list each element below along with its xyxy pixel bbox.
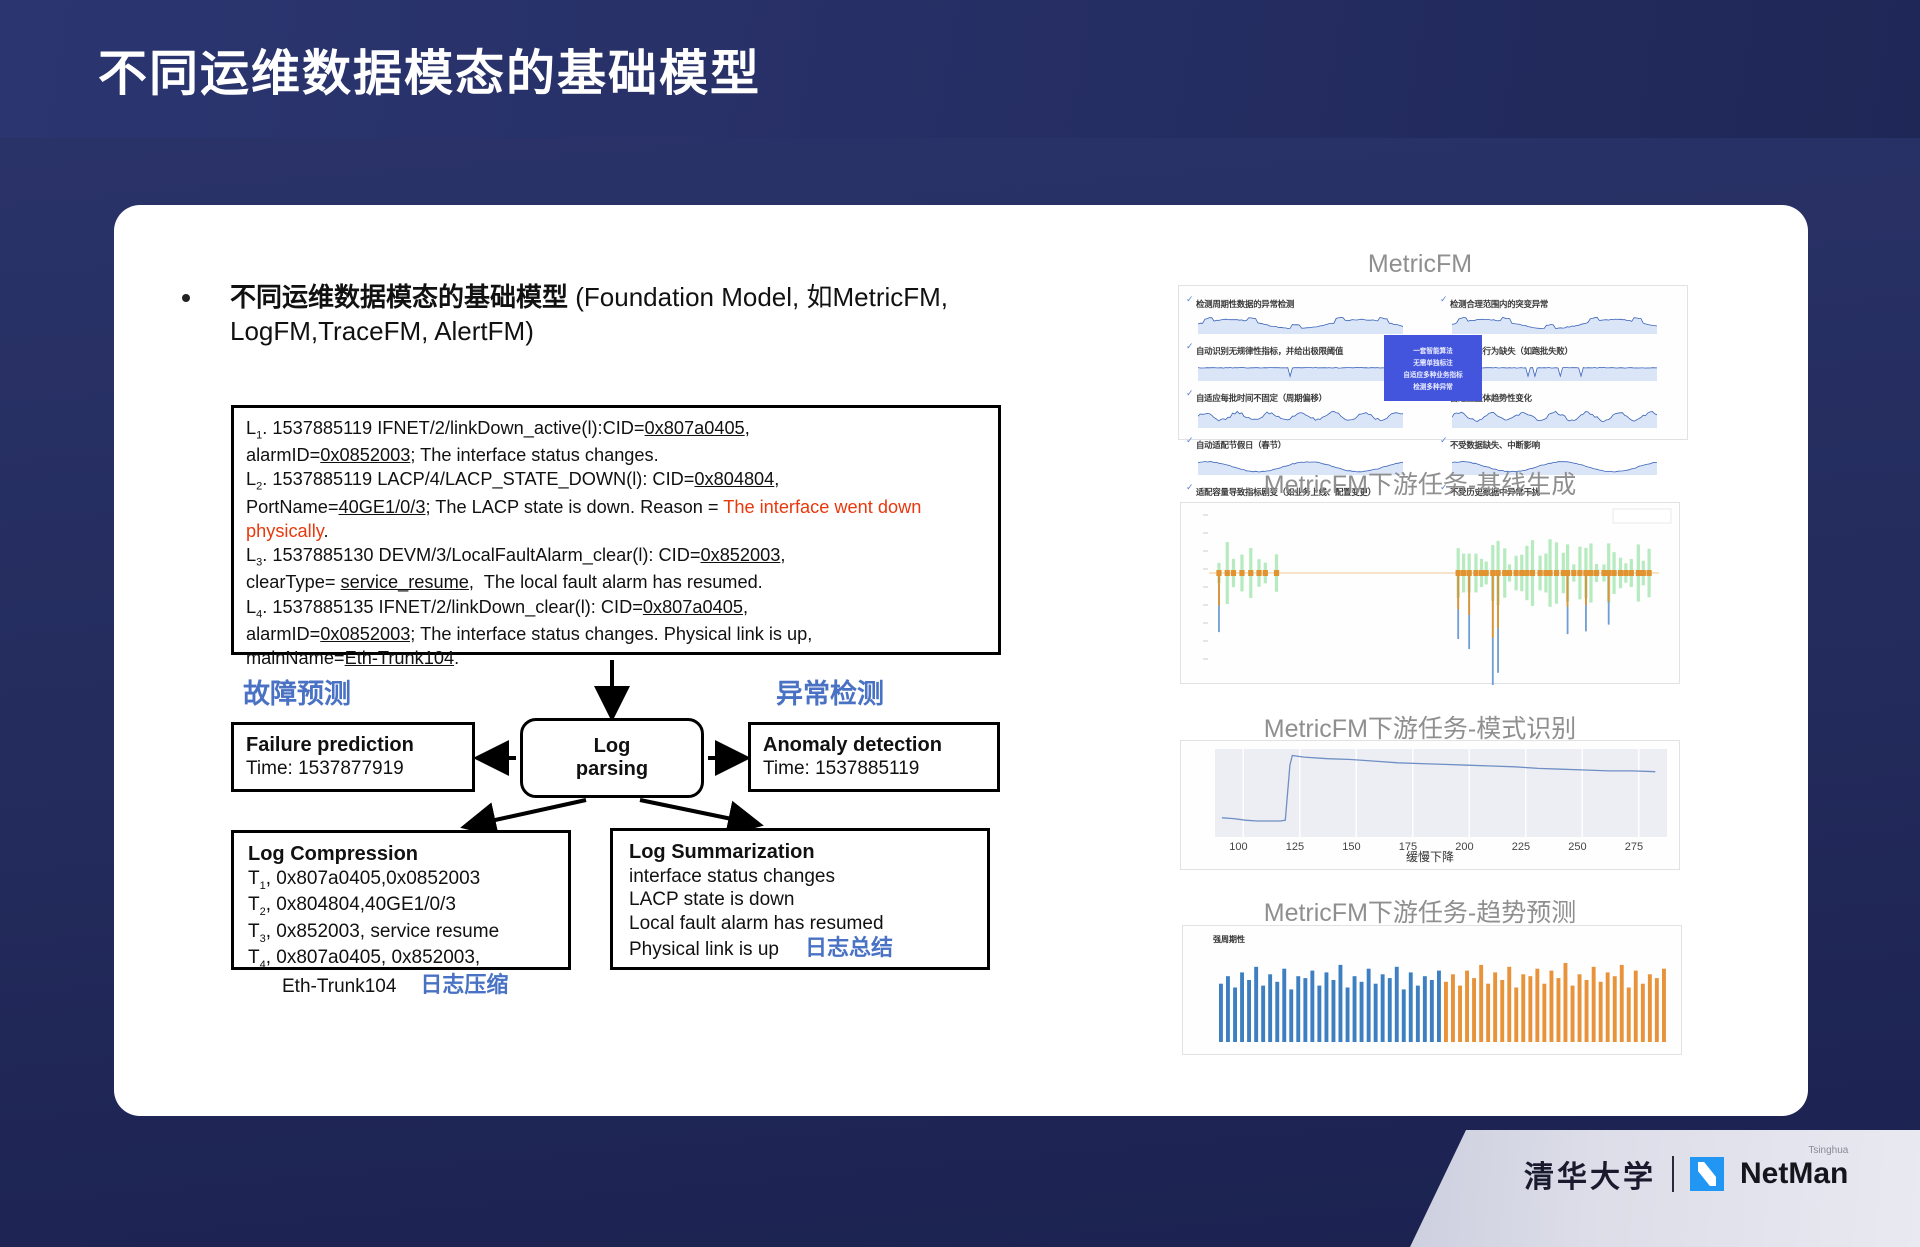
metricfm-sparkline (1452, 316, 1657, 334)
log-parsing-line1: Log (594, 735, 631, 758)
failure-prediction-title: Failure prediction (246, 733, 460, 757)
pattern-chart: 100125150175200225250275 缓慢下降 (1180, 740, 1680, 870)
log-summarization-rows: interface status changesLACP state is do… (629, 865, 971, 962)
check-icon: ✓ (1186, 435, 1196, 446)
log-summarization-title: Log Summarization (629, 841, 971, 864)
metricfm-sparkline (1198, 363, 1403, 381)
anomaly-detection-title: Anomaly detection (763, 733, 985, 757)
metricfm-capability-item: ✓检测周期性数据的异常检测 (1186, 294, 1426, 312)
metricfm-capability-label: 检测周期性数据的异常检测 (1196, 298, 1294, 310)
compression-row: T4, 0x807a0405, 0x852003, (248, 946, 554, 972)
log-summarization-box: Log Summarization interface status chang… (610, 828, 990, 970)
summarization-row: interface status changes (629, 865, 971, 888)
tsinghua-university-logo: 清华大学 (1524, 1152, 1656, 1196)
log-parsing-node: Log parsing (520, 718, 704, 798)
metricfm-capability-label: 自动识别无规律性指标，并给出极限阈值 (1196, 345, 1343, 357)
metricfm-capability-label: 不受数据缺失、中断影响 (1450, 439, 1540, 451)
metricfm-sparkline (1452, 363, 1657, 381)
metricfm-center-line: 自适应多种业务指标 (1403, 369, 1462, 379)
label-anomaly-detection-cn: 异常检测 (776, 672, 884, 711)
metricfm-sparkline (1198, 316, 1403, 334)
metricfm-sparkline (1198, 410, 1403, 428)
log-line: L4. 1537885135 IFNET/2/linkDown_clear(l)… (246, 595, 988, 671)
failure-prediction-box: Failure prediction Time: 1537877919 (231, 722, 475, 792)
check-icon: ✓ (1186, 294, 1196, 305)
log-compression-title: Log Compression (248, 843, 554, 866)
check-icon: ✓ (1186, 388, 1196, 399)
log-summarization-cn-label: 日志总结 (805, 935, 893, 960)
log-parsing-line2: parsing (576, 758, 648, 781)
log-line: L2. 1537885119 LACP/4/LACP_STATE_DOWN(l)… (246, 467, 988, 543)
compression-row: T1, 0x807a0405,0x0852003 (248, 867, 554, 893)
trend-title: MetricFM下游任务-趋势预测 (1150, 893, 1690, 929)
metricfm-sparkline (1452, 410, 1657, 428)
bullet-bold: 不同运维数据模态的基础模型 (230, 282, 568, 312)
metricfm-capability-item: ✓不受数据缺失、中断影响 (1440, 435, 1680, 453)
summarization-row: Physical link is up日志总结 (629, 935, 971, 962)
slide-root: 不同运维数据模态的基础模型 不同运维数据模态的基础模型 (Foundation … (0, 0, 1920, 1247)
metricfm-capability-label: 自动适配节假日（春节） (1196, 439, 1286, 451)
metricfm-center-line: 一套智能算法 (1413, 345, 1453, 355)
baseline-chart-svg (1181, 503, 1681, 685)
log-compression-cn-label: 日志压缩 (420, 972, 508, 997)
check-icon: ✓ (1440, 435, 1450, 446)
metricfm-title: MetricFM (1150, 250, 1690, 279)
compression-continuation: Eth-Trunk104日志压缩 (248, 972, 554, 999)
anomaly-detection-time: Time: 1537885119 (763, 757, 985, 781)
metricfm-capability-item: ✓检测合理范围内的突变异常 (1440, 294, 1680, 312)
logo-divider (1672, 1156, 1674, 1192)
metricfm-center-line: 无需单独标注 (1413, 357, 1453, 367)
anomaly-detection-box: Anomaly detection Time: 1537885119 (748, 722, 1000, 792)
failure-prediction-time: Time: 1537877919 (246, 757, 460, 781)
check-icon: ✓ (1186, 341, 1196, 352)
baseline-chart (1180, 502, 1680, 684)
log-line: L3. 1537885130 DEVM/3/LocalFaultAlarm_cl… (246, 543, 988, 594)
trend-chart: 强周期性 (1182, 925, 1682, 1055)
slide-header: 不同运维数据模态的基础模型 (0, 0, 1920, 138)
summarization-row: LACP state is down (629, 888, 971, 911)
metricfm-capability-item: ✓自动适配节假日（春节） (1186, 435, 1426, 453)
pattern-x-axis-label: 缓慢下降 (1181, 848, 1679, 865)
baseline-title: MetricFM下游任务-基线生成 (1150, 465, 1690, 501)
compression-row: T2, 0x804804,40GE1/0/3 (248, 893, 554, 919)
log-line: L1. 1537885119 IFNET/2/linkDown_active(l… (246, 416, 988, 467)
bullet-item: 不同运维数据模态的基础模型 (Foundation Model, 如Metric… (182, 280, 1042, 349)
label-failure-prediction-cn: 故障预测 (243, 672, 351, 711)
check-icon: ✓ (1440, 294, 1450, 305)
netman-wordmark: NetMan Tsinghua (1740, 1157, 1848, 1191)
log-compression-rows: T1, 0x807a0405,0x0852003T2, 0x804804,40G… (248, 867, 554, 999)
log-lines: L1. 1537885119 IFNET/2/linkDown_active(l… (246, 416, 988, 670)
metricfm-center-line: 检测多种异常 (1413, 381, 1453, 391)
bullet-dot-icon (182, 294, 190, 302)
netman-superscript: Tsinghua (1808, 1145, 1848, 1156)
bullet-text: 不同运维数据模态的基础模型 (Foundation Model, 如Metric… (230, 280, 1042, 349)
trend-annotation: 强周期性 (1213, 934, 1245, 945)
netman-text: NetMan (1740, 1157, 1848, 1190)
page-title: 不同运维数据模态的基础模型 (98, 34, 761, 105)
footer-logo: 清华大学 NetMan Tsinghua (1524, 1152, 1848, 1196)
metricfm-capability-panel: ✓检测周期性数据的异常检测✓自动识别无规律性指标，并给出极限阈值✓自适应每批时间… (1178, 285, 1688, 440)
trend-chart-svg (1183, 926, 1683, 1056)
compression-row: T3, 0x852003, service resume (248, 920, 554, 946)
metricfm-center-callout: 一套智能算法无需单独标注自适应多种业务指标检测多种异常 (1384, 335, 1482, 401)
metricfm-capability-label: 检测合理范围内的突变异常 (1450, 298, 1548, 310)
metricfm-capability-label: 自适应每批时间不固定（周期偏移） (1196, 392, 1327, 404)
log-sample-box: L1. 1537885119 IFNET/2/linkDown_active(l… (231, 405, 1001, 655)
netman-mark-icon (1690, 1157, 1724, 1191)
log-compression-box: Log Compression T1, 0x807a0405,0x0852003… (231, 830, 571, 970)
summarization-row: Local fault alarm has resumed (629, 912, 971, 935)
